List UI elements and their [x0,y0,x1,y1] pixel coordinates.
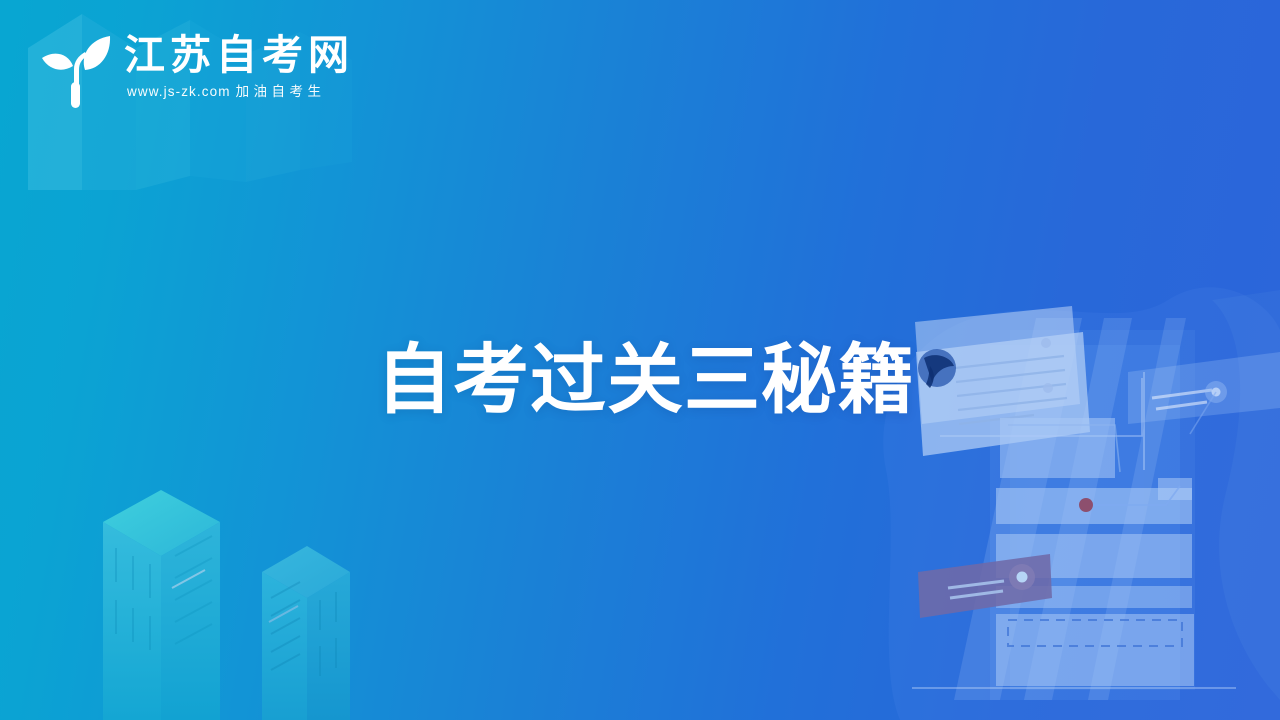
badge-card-purple [918,554,1052,618]
panel-bar-group [996,478,1192,608]
sprout-icon-svg [32,22,118,108]
marker-dot [1079,486,1180,512]
foreground-tower-short [262,546,350,720]
logo-tagline: www.js-zk.com加油自考生 [124,82,354,102]
logo-tagline-slogan: 加油自考生 [236,84,326,99]
logo-title: 江苏自考网 [124,31,354,79]
foreground-tower-tall [103,490,220,720]
logo-text-block: 江苏自考网 www.js-zk.com加油自考生 [124,29,354,102]
site-logo[interactable]: 江苏自考网 www.js-zk.com加油自考生 [32,22,354,108]
badge-card-faint [1128,352,1280,434]
document-card-tilted [915,306,1090,456]
diagonal-stripes [954,318,1186,700]
sprout-icon [32,22,118,108]
logo-tagline-url: www.js-zk.com [127,84,231,99]
blob-shape [883,287,1280,720]
headline-title: 自考过关三秘籍 [376,336,915,424]
connector-lines [940,372,1144,470]
back-slab [990,345,1180,700]
cursor-mark [918,349,956,388]
documents-stack-illustration [883,287,1280,720]
dashed-placeholder-box [996,614,1194,686]
promo-banner: 江苏自考网 www.js-zk.com加油自考生 自考过关三秘籍 [0,0,1280,720]
inner-panel [1000,418,1115,478]
